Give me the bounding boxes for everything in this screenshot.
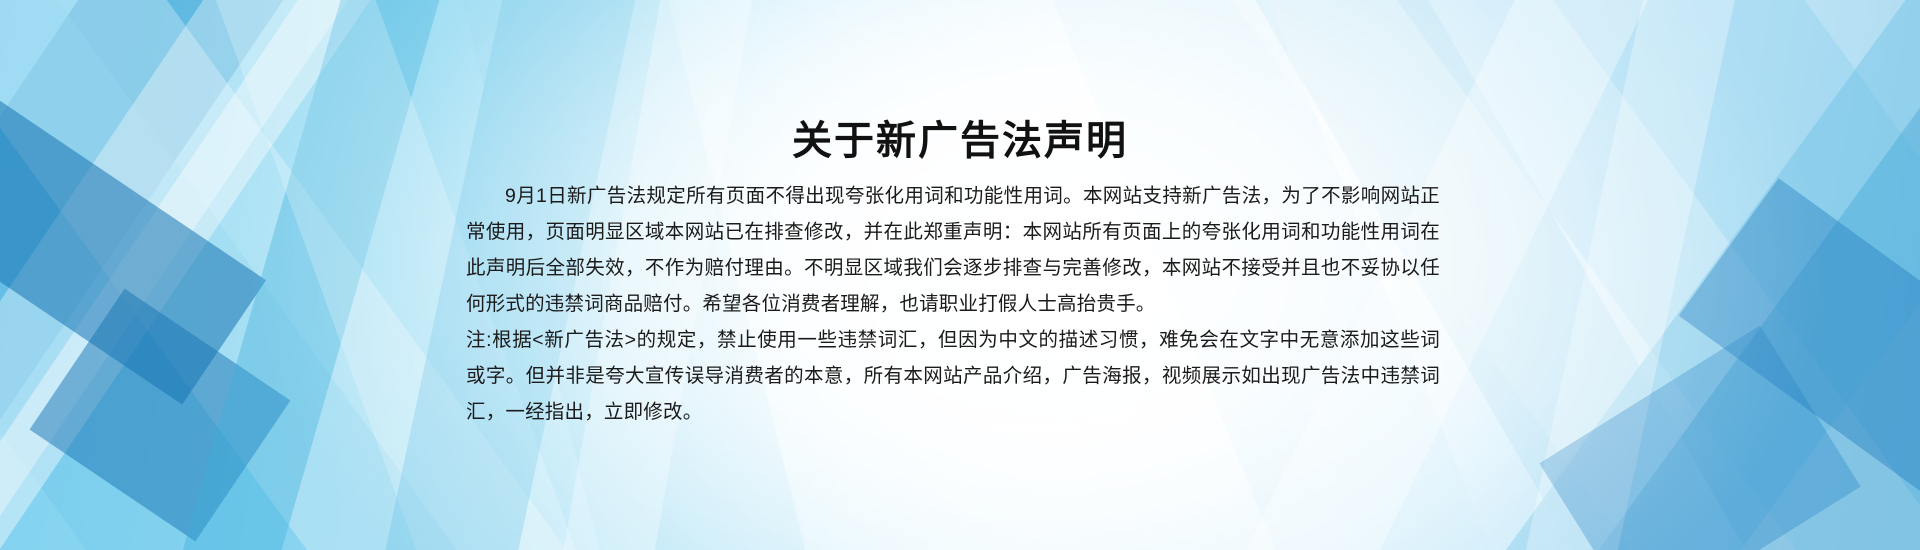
page-title: 关于新广告法声明 <box>0 119 1920 163</box>
statement-paragraph-note: 注:根据<新广告法>的规定，禁止使用一些违禁词汇，但因为中文的描述习惯，难免会在… <box>466 322 1440 430</box>
banner-canvas: 关于新广告法声明 9月1日新广告法规定所有页面不得出现夸张化用词和功能性用词。本… <box>0 0 1920 550</box>
statement-body: 9月1日新广告法规定所有页面不得出现夸张化用词和功能性用词。本网站支持新广告法，… <box>466 178 1440 430</box>
banner-content: 关于新广告法声明 9月1日新广告法规定所有页面不得出现夸张化用词和功能性用词。本… <box>0 0 1920 550</box>
statement-paragraph-main: 9月1日新广告法规定所有页面不得出现夸张化用词和功能性用词。本网站支持新广告法，… <box>466 178 1440 322</box>
